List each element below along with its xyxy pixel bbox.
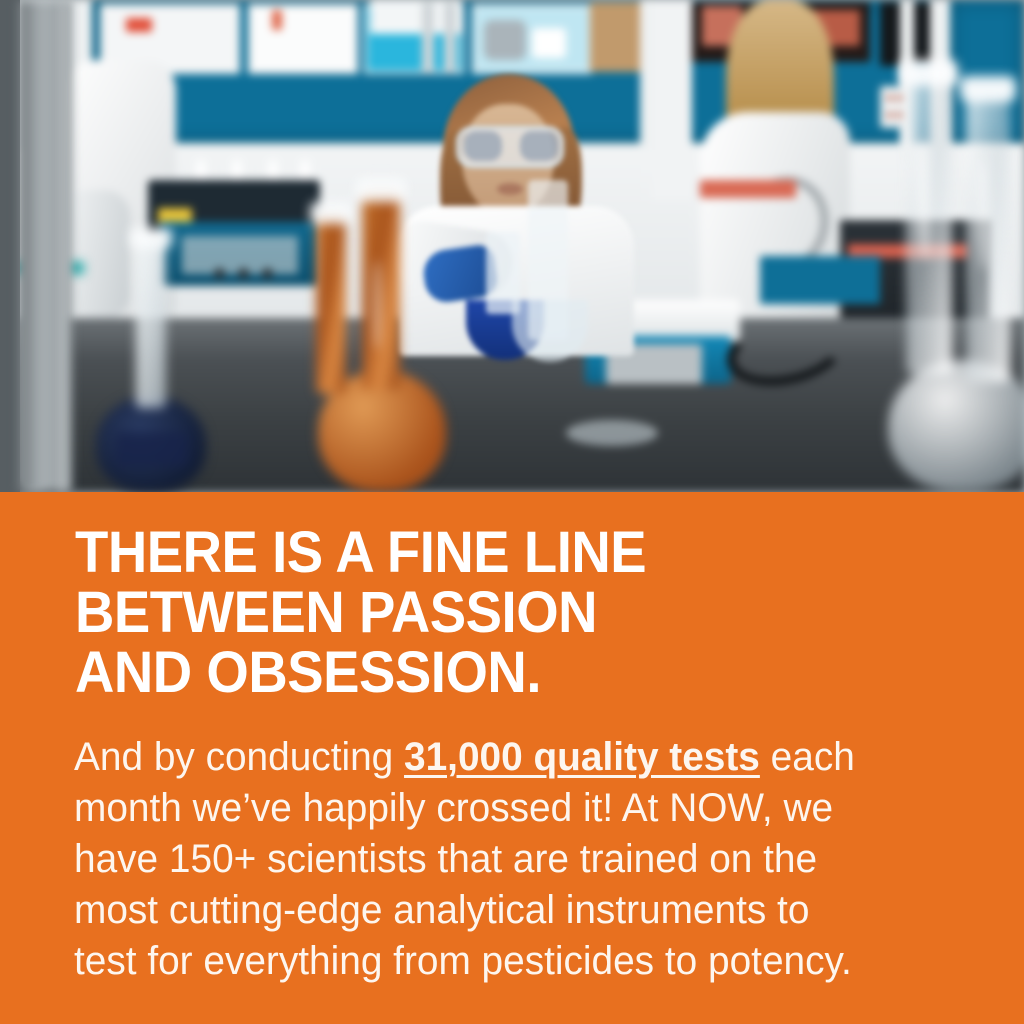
flask-500 [96,396,206,492]
door-frame-line [60,0,66,492]
amber-flask-neck-2 [316,214,346,394]
glass-highlight [918,140,930,260]
clear-flask-stopper [900,60,958,86]
clear-flask-stopper-2 [960,76,1016,102]
body-line-3: have 150+ scientists that are trained on… [74,834,937,885]
flask-500-label [116,432,188,466]
flask-500-neck [136,238,166,408]
body-line-5: test for everything from pesticides to p… [74,936,937,987]
glass-highlight [978,160,990,270]
body-line-1: And by conducting 31,000 quality tests e… [74,732,937,783]
foreground-glassware-layer [0,0,1024,492]
body-copy: And by conducting 31,000 quality tests e… [74,732,937,987]
lab-photo [0,0,1024,492]
amber-flask-stopper [356,178,406,202]
orange-text-panel: THERE IS A FINE LINE BETWEEN PASSION AND… [0,492,1024,1024]
headline-line-2: BETWEEN PASSION [75,583,921,643]
headline: THERE IS A FINE LINE BETWEEN PASSION AND… [75,523,921,703]
headline-line-1: THERE IS A FINE LINE [75,523,921,583]
stat-quality-tests: 31,000 quality tests [404,735,760,779]
promo-card: THERE IS A FINE LINE BETWEEN PASSION AND… [0,0,1024,1024]
glass-highlight [372,260,382,350]
body-text-before: And by conducting [74,735,404,779]
amber-flask-stopper-2 [310,202,352,224]
body-line-2: month we’ve happily crossed it! At NOW, … [74,783,937,834]
body-text-after: each [760,735,855,779]
door-edge [0,0,20,492]
flask-500-stopper [130,228,172,248]
body-line-4: most cutting-edge analytical instruments… [74,885,937,936]
headline-line-3: AND OBSESSION. [75,643,921,703]
